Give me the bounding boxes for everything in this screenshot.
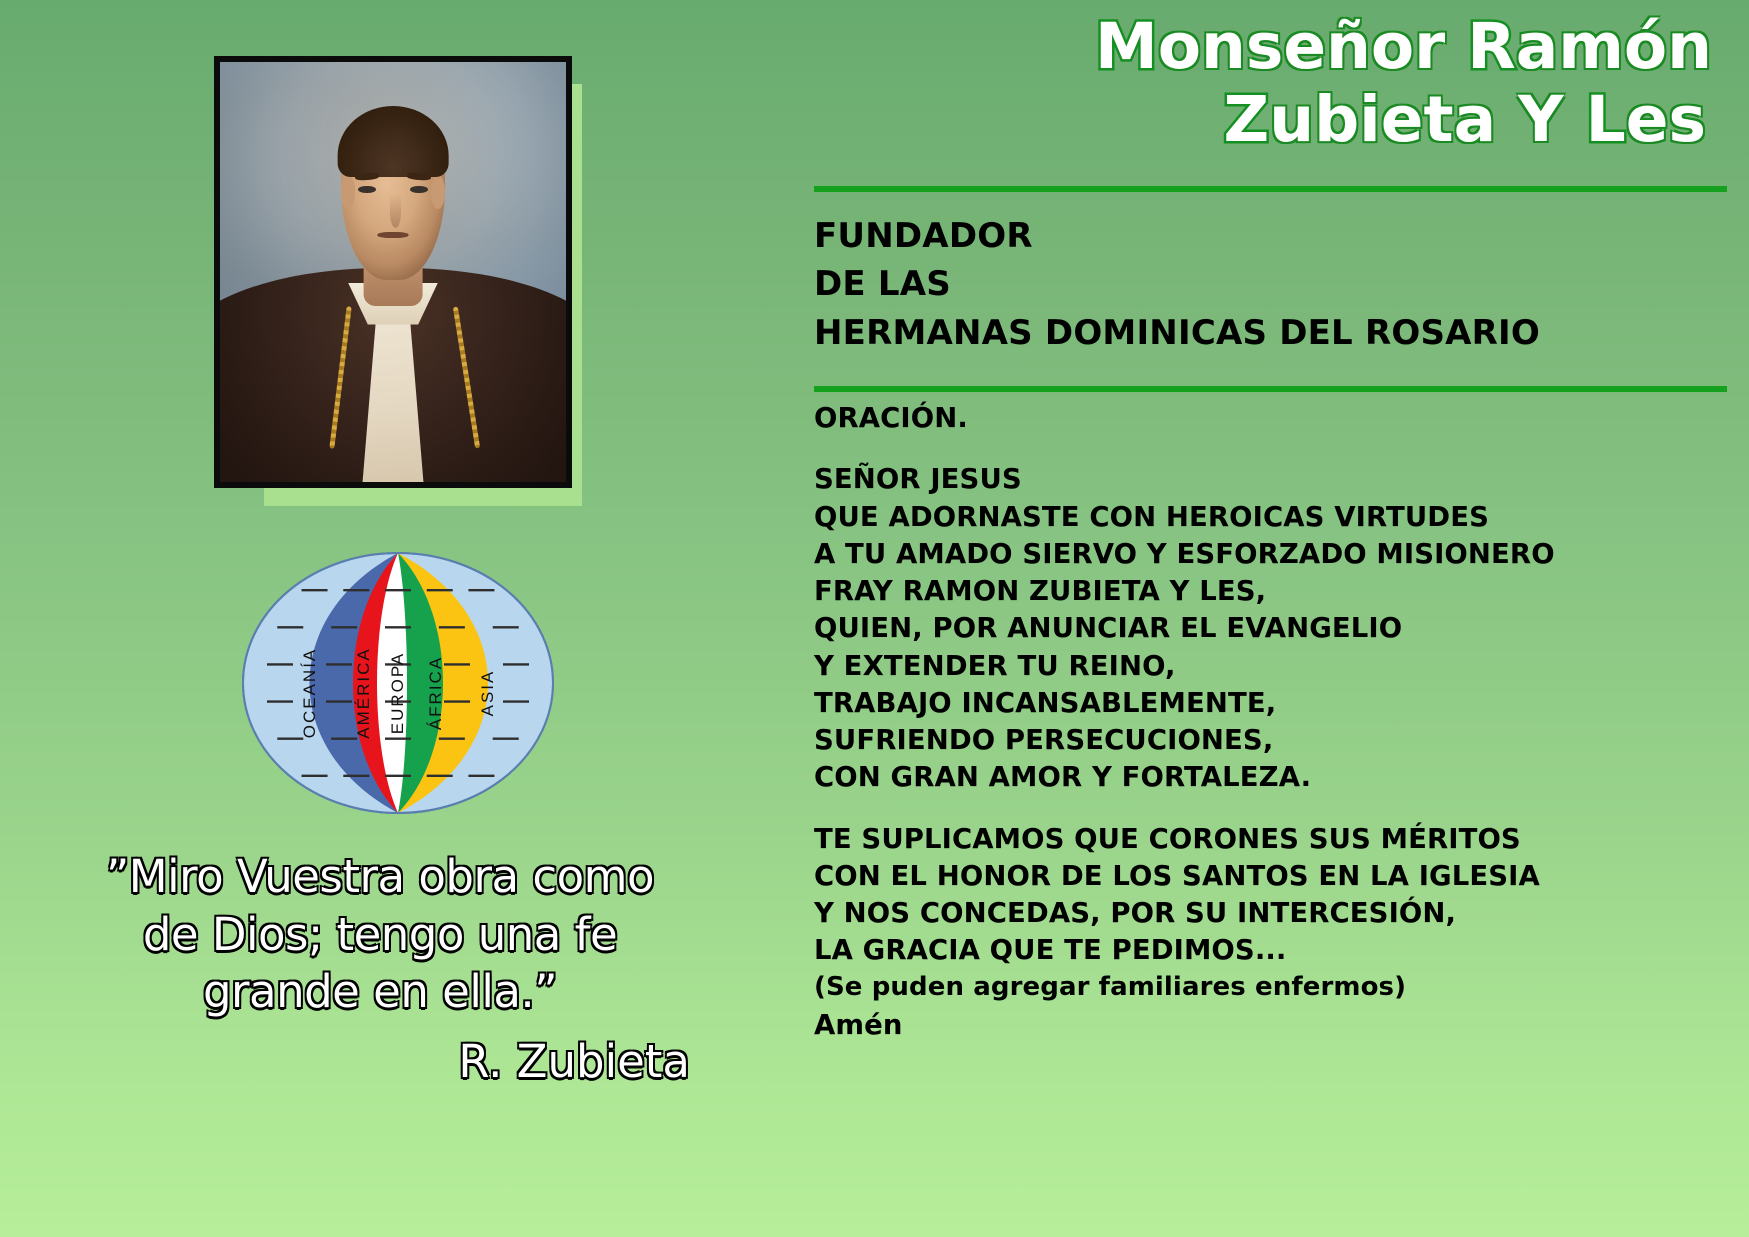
quote-block: ”Miro Vuestra obra como de Dios; tengo u… — [60, 848, 700, 1088]
prayer-line: TRABAJO INCANSABLEMENTE, — [814, 685, 1744, 722]
globe-graphic: OCEANÍAAMÉRICAEUROPAÁFRICAASIA — [238, 528, 558, 818]
founder-block: FUNDADOR DE LAS HERMANAS DOMINICAS DEL R… — [814, 212, 1734, 357]
prayer-card: OCEANÍAAMÉRICAEUROPAÁFRICAASIA ”Miro Vue… — [0, 0, 1749, 1237]
prayer-line: CON GRAN AMOR Y FORTALEZA. — [814, 759, 1744, 796]
portrait-ear-left — [341, 175, 355, 209]
quote-line: grande en ella.” — [60, 963, 700, 1021]
prayer-line: SUFRIENDO PERSECUCIONES, — [814, 722, 1744, 759]
prayer-line: SEÑOR JESUS — [814, 461, 1744, 498]
quote-line: de Dios; tengo una fe — [60, 906, 700, 964]
prayer-line: Y NOS CONCEDAS, POR SU INTERCESIÓN, — [814, 895, 1744, 932]
right-column: Monseñor Ramón Zubieta Y Les FUNDADOR DE… — [790, 0, 1749, 1237]
title-run: amón — [1516, 10, 1712, 83]
prayer-line: LA GRACIA QUE TE PEDIMOS... — [814, 932, 1744, 969]
quote-author: R. Zubieta — [60, 1035, 700, 1088]
founder-line: HERMANAS DOMINICAS DEL ROSARIO — [814, 309, 1734, 357]
prayer-block: ORACIÓN. SEÑOR JESUS QUE ADORNASTE CON H… — [814, 400, 1744, 1044]
divider-top — [814, 186, 1727, 192]
portrait-frame — [214, 56, 572, 488]
founder-line: FUNDADOR — [814, 212, 1734, 260]
globe-label-áfrica: ÁFRICA — [426, 656, 446, 730]
title-line-2: Zubieta Y Les — [810, 85, 1712, 154]
prayer-spacer — [814, 437, 1744, 461]
portrait-mouth — [377, 232, 408, 238]
globe-label-oceanía: OCEANÍA — [300, 648, 320, 739]
prayer-line: QUE ADORNASTE CON HEROICAS VIRTUDES — [814, 499, 1744, 536]
prayer-heading: ORACIÓN. — [814, 400, 1744, 437]
title-line-1: Monseñor Ramón — [810, 12, 1712, 81]
title-capital: Z — [1224, 83, 1270, 156]
founder-line: DE LAS — [814, 260, 1734, 308]
portrait-image — [220, 62, 566, 482]
prayer-line: Y EXTENDER TU REINO, — [814, 648, 1744, 685]
title-capital: L — [1586, 83, 1626, 156]
prayer-amen: Amén — [814, 1007, 1744, 1044]
title-capital: R — [1467, 10, 1516, 83]
globe-label-américa: AMÉRICA — [354, 647, 374, 738]
prayer-line: QUIEN, POR ANUNCIAR EL EVANGELIO — [814, 610, 1744, 647]
portrait-ear-right — [431, 175, 445, 209]
divider-middle — [814, 386, 1727, 392]
globe-label-asia: ASIA — [478, 670, 498, 717]
left-column: OCEANÍAAMÉRICAEUROPAÁFRICAASIA ”Miro Vue… — [0, 0, 790, 1237]
prayer-spacer — [814, 797, 1744, 821]
prayer-line: A TU AMADO SIERVO Y ESFORZADO MISIONERO — [814, 536, 1744, 573]
prayer-line: TE SUPLICAMOS QUE CORONES SUS MÉRITOS — [814, 821, 1744, 858]
page-title: Monseñor Ramón Zubieta Y Les — [810, 12, 1730, 155]
title-capital: M — [1095, 10, 1158, 83]
quote-line: ”Miro Vuestra obra como — [60, 848, 700, 906]
title-run: es — [1626, 83, 1706, 156]
title-run: onseñor — [1158, 10, 1468, 83]
prayer-note: (Se puden agregar familiares enfermos) — [814, 970, 1744, 1007]
prayer-line: CON EL HONOR DE LOS SANTOS EN LA IGLESIA — [814, 858, 1744, 895]
title-run: ubieta Y — [1269, 83, 1585, 156]
globe-label-europa: EUROPA — [388, 652, 408, 735]
prayer-line: FRAY RAMON ZUBIETA Y LES, — [814, 573, 1744, 610]
portrait-nose — [390, 194, 402, 228]
